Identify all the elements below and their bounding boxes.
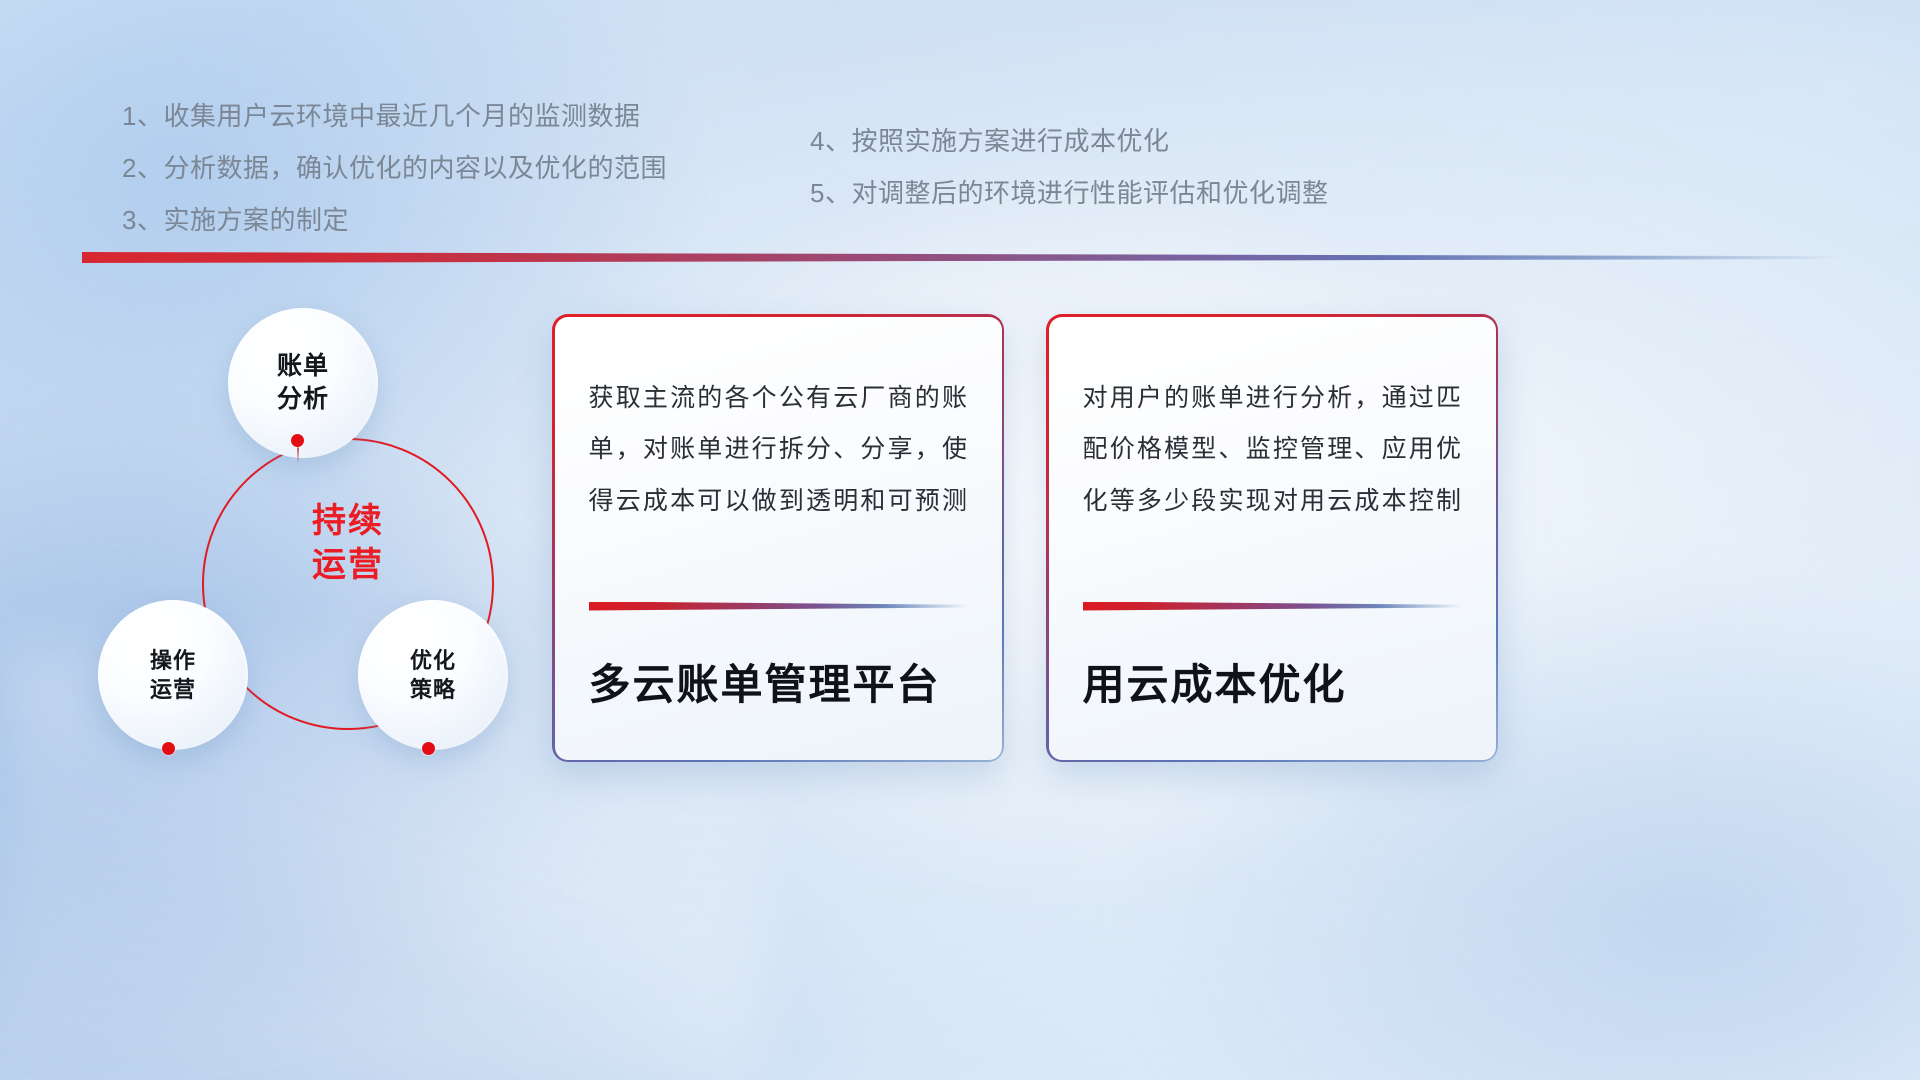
diagram-node-operations[interactable]: 操作 运营: [98, 600, 248, 750]
feature-card-cloud-cost-optimization[interactable]: 对用户的账单进行分析，通过匹配价格模型、监控管理、应用优化等多少段实现对用云成本…: [1046, 314, 1498, 762]
center-label-line2: 运营: [202, 544, 494, 588]
diagram-dot-bottom-right: [422, 742, 435, 755]
card-divider: [1083, 602, 1462, 611]
bullet-item-1: 1、收集用户云环境中最近几个月的监测数据: [122, 103, 667, 129]
diagram-dot-top: [291, 434, 304, 447]
bullet-list-right: 4、按照实施方案进行成本优化 5、对调整后的环境进行性能评估和优化调整: [810, 128, 1328, 232]
card-title: 多云账单管理平台: [589, 611, 968, 760]
diagram-node-billing-analysis[interactable]: 账单 分析: [228, 308, 378, 458]
node-label-line2: 策略: [410, 675, 456, 704]
card-inner: 对用户的账单进行分析，通过匹配价格模型、监控管理、应用优化等多少段实现对用云成本…: [1049, 317, 1496, 760]
card-inner: 获取主流的各个公有云厂商的账单，对账单进行拆分、分享，使得云成本可以做到透明和可…: [555, 317, 1002, 760]
feature-card-multicloud-billing[interactable]: 获取主流的各个公有云厂商的账单，对账单进行拆分、分享，使得云成本可以做到透明和可…: [552, 314, 1004, 762]
diagram-node-optimization-strategy[interactable]: 优化 策略: [358, 600, 508, 750]
node-label-line2: 运营: [150, 675, 196, 704]
bullet-list-left: 1、收集用户云环境中最近几个月的监测数据 2、分析数据，确认优化的内容以及优化的…: [122, 103, 667, 259]
bullet-item-4: 4、按照实施方案进行成本优化: [810, 128, 1328, 154]
diagram-dot-bottom-left: [162, 742, 175, 755]
cycle-diagram: 持续 运营 账单 分析 操作 运营 优化 策略: [80, 290, 550, 790]
card-divider: [589, 602, 968, 611]
card-body-text: 对用户的账单进行分析，通过匹配价格模型、监控管理、应用优化等多少段实现对用云成本…: [1083, 373, 1462, 528]
bullet-item-2: 2、分析数据，确认优化的内容以及优化的范围: [122, 155, 667, 181]
node-label-line1: 操作: [150, 646, 196, 675]
bullet-item-5: 5、对调整后的环境进行性能评估和优化调整: [810, 180, 1328, 206]
node-label-line1: 优化: [410, 646, 456, 675]
bullet-item-3: 3、实施方案的制定: [122, 207, 667, 233]
slide-canvas: 1、收集用户云环境中最近几个月的监测数据 2、分析数据，确认优化的内容以及优化的…: [0, 0, 1920, 1080]
center-label-line1: 持续: [202, 500, 494, 544]
card-title: 用云成本优化: [1083, 611, 1462, 760]
card-body-text: 获取主流的各个公有云厂商的账单，对账单进行拆分、分享，使得云成本可以做到透明和可…: [589, 373, 968, 528]
diagram-center-label: 持续 运营: [202, 500, 494, 587]
node-label-line1: 账单: [277, 350, 329, 383]
node-label-line2: 分析: [277, 383, 329, 416]
